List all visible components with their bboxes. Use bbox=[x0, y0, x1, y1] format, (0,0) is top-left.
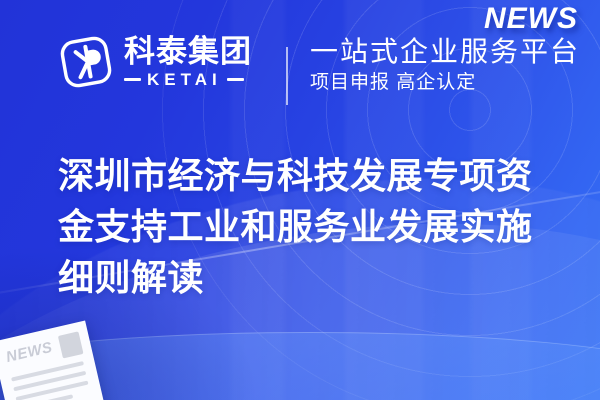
news-banner: 科泰集团 KETAI 一站式企业服务平台 项目申报 高企认定 NEWS 深圳市经… bbox=[0, 0, 600, 400]
news-sheet-heading: NEWS bbox=[5, 340, 54, 365]
dash-right-icon bbox=[227, 78, 244, 81]
news-badge: NEWS bbox=[484, 4, 578, 34]
brand-name-cn: 科泰集团 bbox=[124, 36, 252, 68]
tagline-sub: 项目申报 高企认定 bbox=[310, 73, 580, 94]
brand-name-en-row: KETAI bbox=[124, 71, 252, 88]
banner-header: 科泰集团 KETAI 一站式企业服务平台 项目申报 高企认定 bbox=[58, 34, 600, 110]
brand-wordmark: 科泰集团 KETAI bbox=[124, 36, 252, 89]
dash-left-icon bbox=[124, 78, 141, 81]
tagline: 一站式企业服务平台 项目申报 高企认定 bbox=[310, 36, 580, 94]
news-document-icon: NEWS bbox=[0, 321, 108, 400]
header-divider bbox=[286, 47, 288, 105]
brand-logo: 科泰集团 KETAI bbox=[58, 34, 252, 90]
ketai-k-diamond-logo-icon bbox=[58, 34, 114, 90]
page-title: 深圳市经济与科技发展专项资金支持工业和服务业发展实施细则解读 bbox=[58, 150, 558, 303]
tagline-main: 一站式企业服务平台 bbox=[310, 36, 580, 68]
brand-name-en: KETAI bbox=[147, 71, 222, 88]
news-sheet-image-placeholder bbox=[58, 331, 84, 358]
